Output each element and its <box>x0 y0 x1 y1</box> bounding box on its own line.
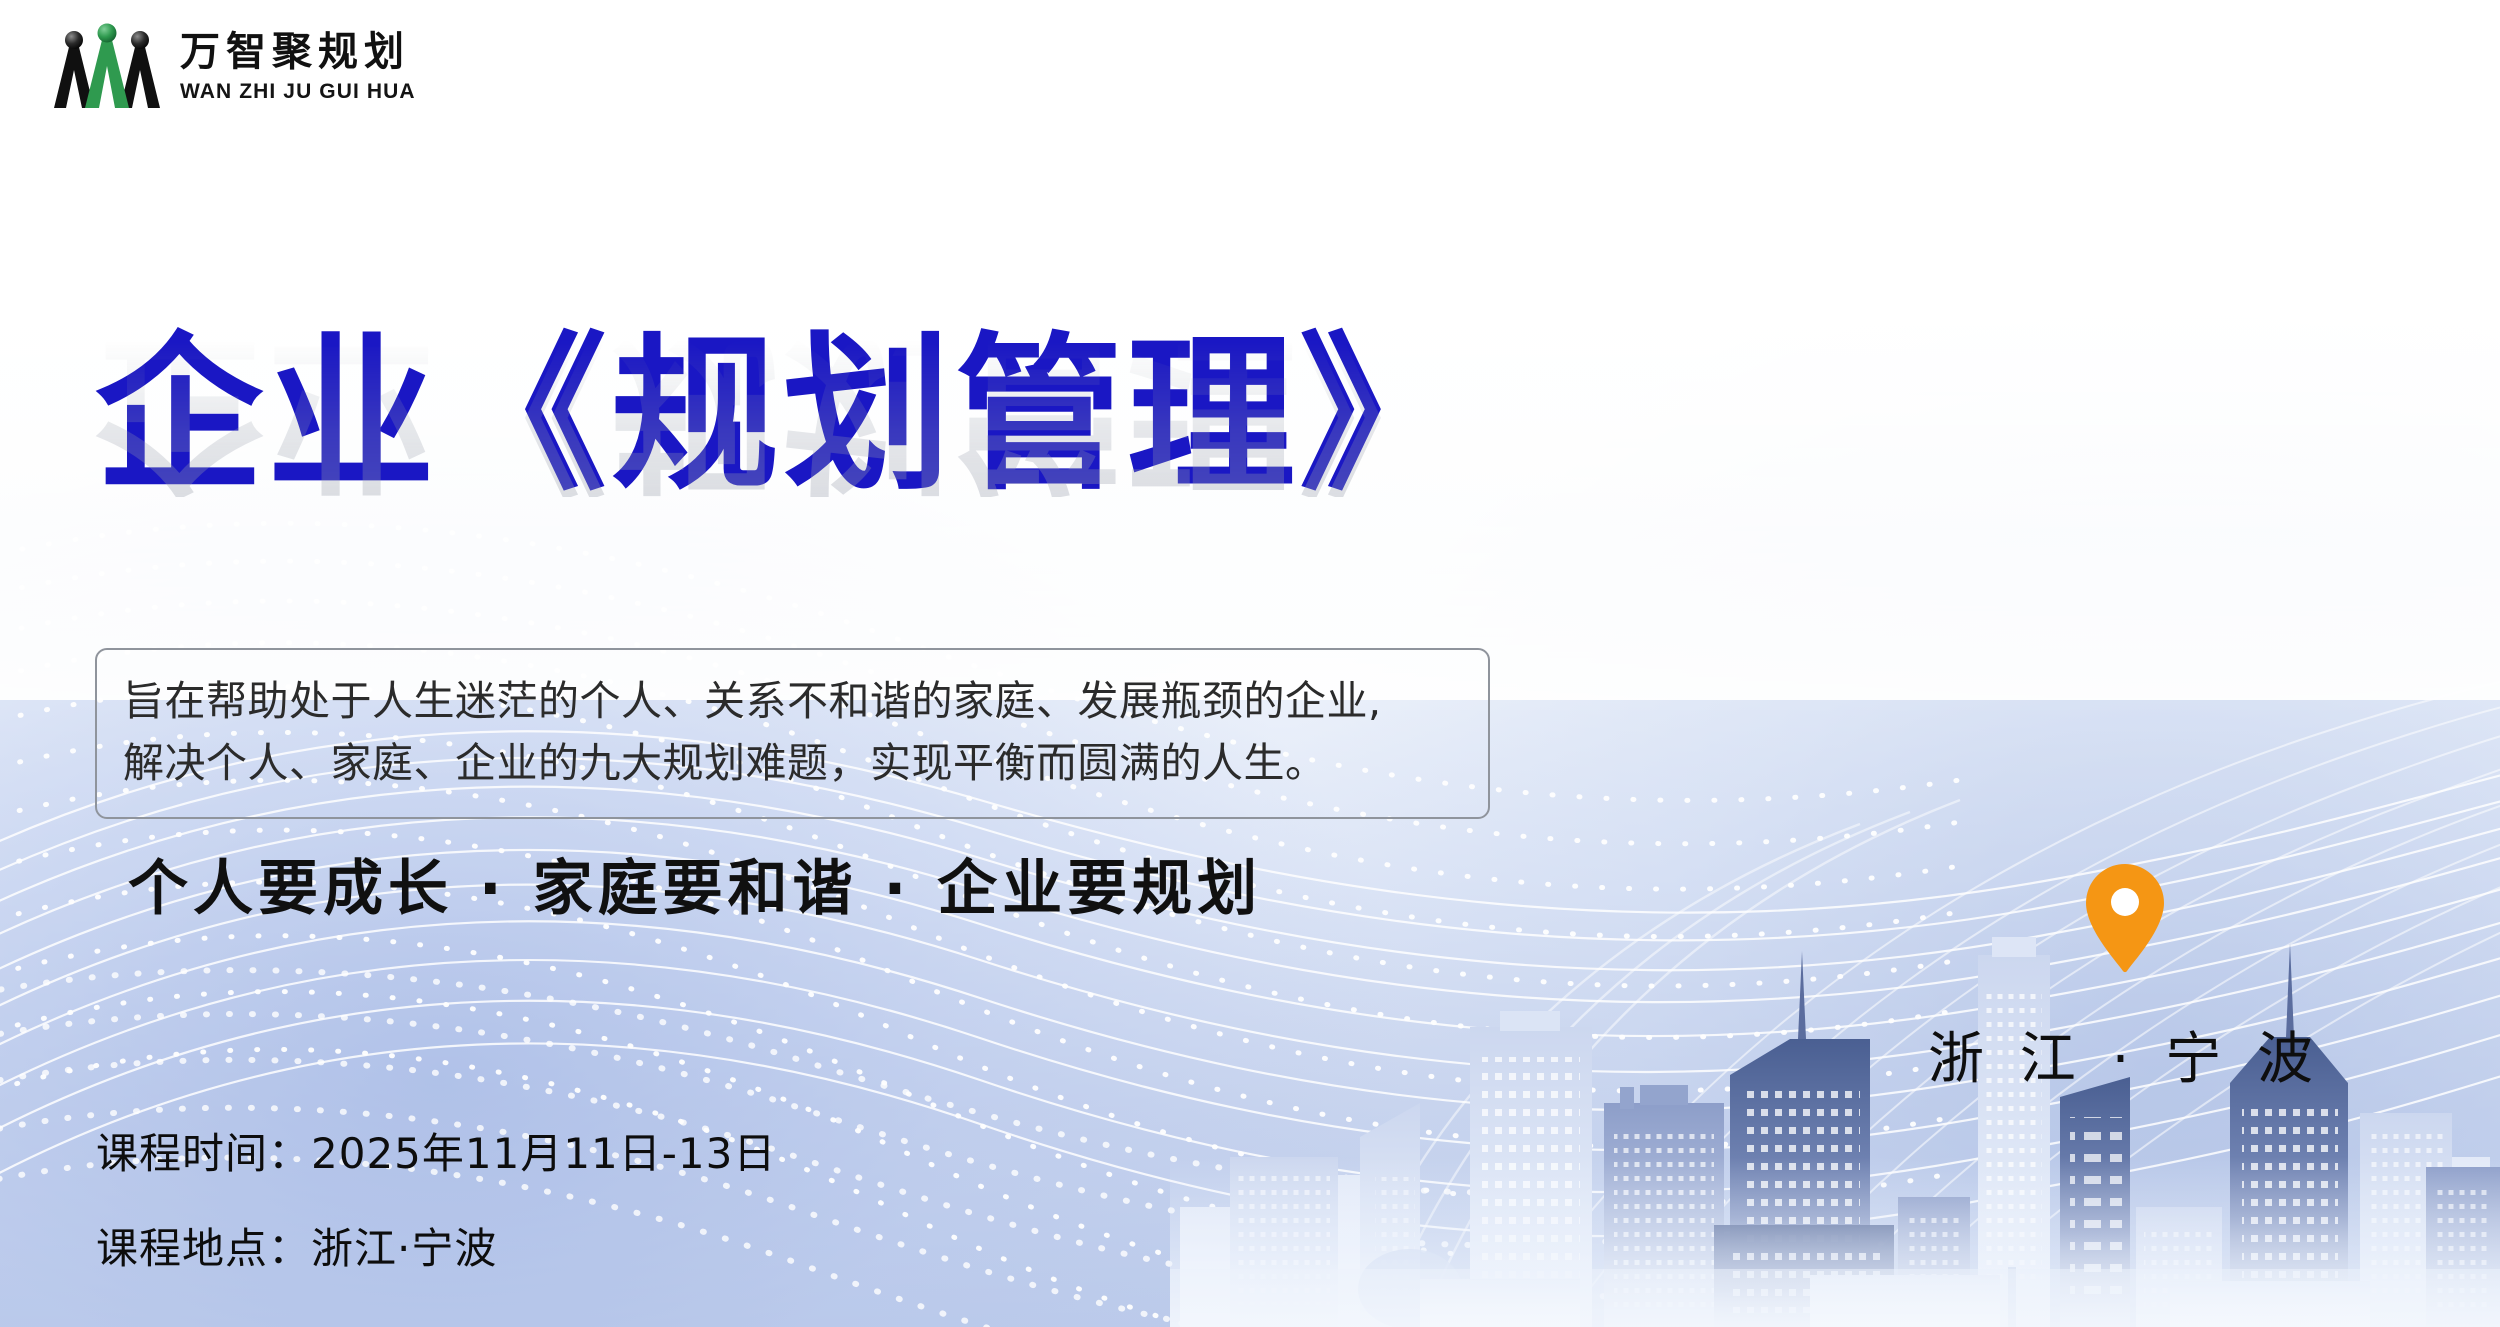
brand-name-cn: 万智聚规划 <box>180 32 416 72</box>
hero-title-block: 企业《规划管理》 企业《规划管理》 <box>95 330 1655 669</box>
description-box: 旨在帮助处于人生迷茫的个人、关系不和谐的家庭、发展瓶颈的企业, 解决个人、家庭、… <box>95 648 1490 819</box>
location-block: 浙 江 · 宁 波 <box>1935 862 2315 1095</box>
description-line-1: 旨在帮助处于人生迷茫的个人、关系不和谐的家庭、发展瓶颈的企业, <box>123 670 1462 732</box>
location-label: 浙 江 · 宁 波 <box>1928 1014 2322 1095</box>
brand-text: 万智聚规划 WAN ZHI JU GUI HUA <box>180 32 416 102</box>
three-people-logo-icon <box>48 22 166 112</box>
course-info: 课程时间：2025年11月11日-13日 课程地点：浙江·宁波 <box>96 1120 776 1276</box>
page-title: 企业《规划管理》 <box>95 330 1655 501</box>
skyline-fade-overlay <box>1170 1157 2500 1327</box>
course-time: 课程时间：2025年11月11日-13日 <box>96 1120 776 1181</box>
brand-name-pinyin: WAN ZHI JU GUI HUA <box>180 81 416 102</box>
poster-canvas: 万智聚规划 WAN ZHI JU GUI HUA 企业《规划管理》 企业《规划管… <box>0 0 2500 1327</box>
course-place: 课程地点：浙江·宁波 <box>96 1215 776 1276</box>
brand-logo[interactable]: 万智聚规划 WAN ZHI JU GUI HUA <box>48 22 416 112</box>
map-pin-icon <box>2084 862 2166 974</box>
description-line-2: 解决个人、家庭、企业的九大规划难题，实现平衡而圆满的人生。 <box>123 732 1462 794</box>
tagline: 个人要成长 · 家庭要和谐 · 企业要规划 <box>128 840 1262 927</box>
